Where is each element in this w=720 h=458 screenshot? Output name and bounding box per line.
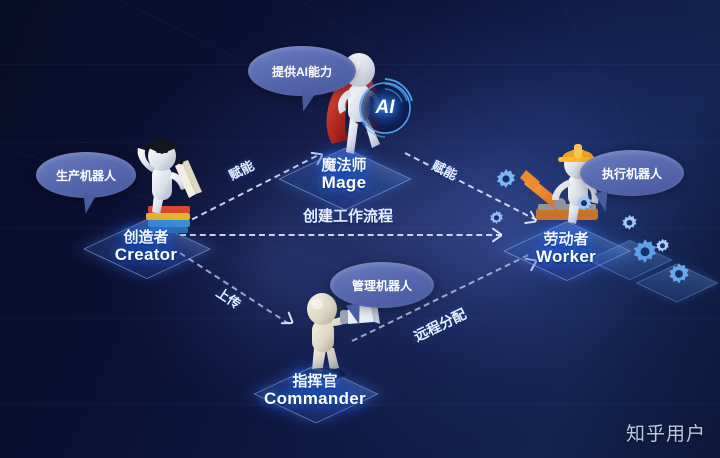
bubble-mage: 提供AI能力: [248, 46, 356, 96]
bubble-tail: [81, 193, 97, 215]
watermark: 知乎用户: [626, 419, 706, 446]
bubble-creator-text: 生产机器人: [56, 167, 116, 184]
diagram-canvas: 赋能 赋能 创建工作流程 上传 远程分配: [0, 0, 720, 458]
gear-icon: [666, 262, 692, 293]
graduate-figure-with-books-icon: [118, 136, 214, 240]
bubble-creator: 生产机器人: [36, 152, 136, 198]
bubble-mage-text: 提供AI能力: [272, 63, 332, 80]
bubble-tail: [595, 191, 611, 213]
ai-badge-label: AI: [354, 77, 416, 139]
node-label-en: Worker: [514, 248, 618, 266]
edge-label-creator-to-commander: 上传: [213, 282, 245, 312]
edge-creator-to-worker: [180, 234, 502, 236]
bubble-commander: 管理机器人: [330, 262, 434, 308]
bubble-commander-text: 管理机器人: [352, 277, 412, 294]
bubble-worker-text: 执行机器人: [602, 165, 662, 182]
node-label-en: Mage: [294, 174, 394, 192]
node-label-worker: 劳动者 Worker: [514, 232, 618, 267]
gear-icon: [488, 210, 505, 232]
gear-icon: [620, 214, 639, 238]
node-label-mage: 魔法师 Mage: [294, 158, 394, 193]
node-label-creator: 创造者 Creator: [96, 230, 196, 265]
node-label-en: Commander: [258, 390, 372, 408]
node-label-cn: 劳动者: [514, 232, 618, 248]
node-label-cn: 魔法师: [294, 158, 394, 174]
edge-label-commander-to-worker: 远程分配: [410, 304, 469, 347]
edge-label-creator-to-mage: 赋能: [225, 155, 257, 184]
node-label-en: Creator: [96, 246, 196, 264]
gear-icon: [654, 238, 671, 260]
ai-badge: AI: [354, 77, 416, 139]
bubble-worker: 执行机器人: [580, 150, 684, 196]
gear-icon: [574, 194, 594, 219]
node-label-commander: 指挥官 Commander: [258, 374, 372, 409]
node-label-cn: 创造者: [96, 230, 196, 246]
bubble-tail: [346, 303, 364, 326]
gear-icon: [494, 168, 518, 197]
node-label-cn: 指挥官: [258, 374, 372, 390]
